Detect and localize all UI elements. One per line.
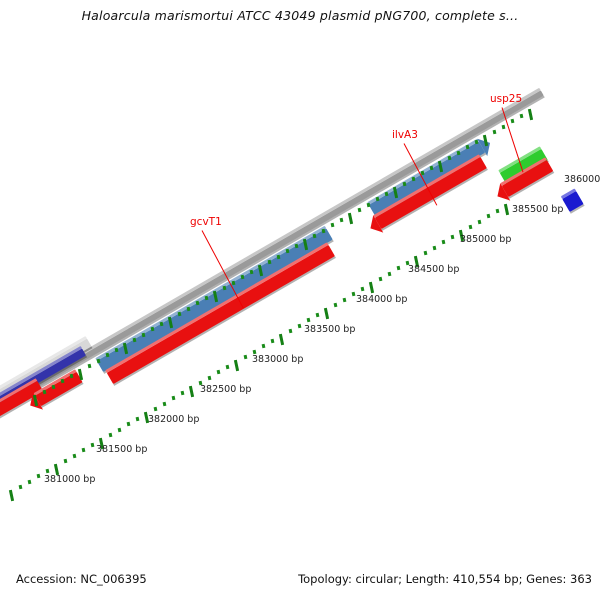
ruler-tick-minor bbox=[289, 329, 293, 334]
ruler-tick-minor bbox=[358, 208, 362, 213]
ruler-tick-minor bbox=[154, 407, 158, 412]
ruler-tick-major bbox=[369, 282, 374, 293]
ruler-tick-minor bbox=[163, 401, 167, 406]
ruler-tick-major bbox=[324, 308, 329, 319]
ruler-tick-minor bbox=[253, 349, 257, 354]
gene-feature[interactable] bbox=[562, 191, 583, 212]
ruler-tick-minor bbox=[199, 381, 203, 386]
ruler-tick-minor bbox=[487, 214, 491, 219]
ruler-bp-label: 384000 bp bbox=[356, 294, 407, 305]
ruler-tick-minor bbox=[496, 209, 500, 214]
ruler-tick-minor bbox=[208, 375, 212, 380]
ruler-bp-label: 381500 bp bbox=[96, 444, 147, 455]
ruler-tick-minor bbox=[244, 355, 248, 360]
ruler-bp-label: 385500 bp bbox=[512, 204, 563, 215]
gene-name-label[interactable]: gcvT1 bbox=[190, 216, 222, 228]
ruler-tick-major bbox=[459, 230, 464, 241]
ruler-tick-minor bbox=[388, 271, 392, 276]
ruler-tick-major bbox=[414, 256, 419, 267]
ruler-tick-minor bbox=[307, 318, 311, 323]
ruler-tick-minor bbox=[469, 225, 473, 230]
ruler-tick-major bbox=[99, 438, 104, 449]
ruler-tick-minor bbox=[262, 344, 266, 349]
ruler-tick-minor bbox=[28, 479, 32, 484]
ruler-bp-label: 381000 bp bbox=[44, 474, 95, 485]
gene-name-label[interactable]: usp25 bbox=[490, 93, 522, 105]
genome-backbone bbox=[0, 90, 544, 415]
ruler-bp-label: 383000 bp bbox=[252, 354, 303, 365]
ruler-tick-major bbox=[54, 464, 59, 475]
ruler-tick-minor bbox=[340, 218, 344, 223]
ruler-tick-minor bbox=[226, 365, 230, 370]
ruler-tick-minor bbox=[37, 474, 41, 479]
ruler-tick-minor bbox=[397, 266, 401, 271]
ruler-tick-major bbox=[279, 334, 284, 345]
ruler-tick-minor bbox=[478, 219, 482, 224]
ruler-tick-major bbox=[9, 490, 14, 501]
ruler-bp-label: 383500 bp bbox=[304, 324, 355, 335]
ruler-tick-minor bbox=[298, 323, 302, 328]
ruler-tick-minor bbox=[316, 313, 320, 318]
ruler-tick-minor bbox=[406, 261, 410, 266]
ruler-tick-minor bbox=[217, 370, 221, 375]
accession-label: Accession: NC_006395 bbox=[16, 572, 147, 586]
ruler-tick-minor bbox=[19, 485, 23, 490]
ruler-tick-minor bbox=[271, 339, 275, 344]
ruler-tick-minor bbox=[181, 391, 185, 396]
ruler-tick-minor bbox=[352, 292, 356, 297]
ruler-bp-label: 385000 bp bbox=[460, 234, 511, 245]
ruler-tick-minor bbox=[136, 417, 140, 422]
genome-summary-label: Topology: circular; Length: 410,554 bp; … bbox=[298, 572, 592, 586]
ruler-tick-minor bbox=[511, 119, 515, 124]
ruler-tick-minor bbox=[91, 443, 95, 448]
ruler-tick-minor bbox=[331, 223, 335, 228]
gene-feature[interactable] bbox=[97, 228, 333, 372]
ruler-bp-label: 384500 bp bbox=[408, 264, 459, 275]
ruler-tick-major bbox=[504, 204, 509, 215]
ruler-tick-minor bbox=[109, 433, 113, 438]
ruler-tick-minor bbox=[88, 364, 92, 369]
genome-diagram: 381000 bp381500 bp382000 bp382500 bp3830… bbox=[0, 0, 600, 600]
ruler-bp-label: 382000 bp bbox=[148, 414, 199, 425]
ruler-tick-minor bbox=[82, 448, 86, 453]
ruler-tick-minor bbox=[172, 396, 176, 401]
ruler-tick-minor bbox=[73, 453, 77, 458]
ruler-tick-minor bbox=[64, 459, 68, 464]
ruler-tick-minor bbox=[361, 287, 365, 292]
ruler-tick-minor bbox=[334, 303, 338, 308]
ruler-tick-major bbox=[189, 386, 194, 397]
ruler-bp-label: 382500 bp bbox=[200, 384, 251, 395]
ruler-tick-major bbox=[234, 360, 239, 371]
ruler-tick-minor bbox=[118, 427, 122, 432]
ruler-tick-minor bbox=[46, 469, 50, 474]
ruler-tick-minor bbox=[343, 297, 347, 302]
ruler-tick-major bbox=[528, 109, 533, 120]
ruler-tick-minor bbox=[502, 124, 506, 129]
genome-viewer: Haloarcula marismortui ATCC 43049 plasmi… bbox=[0, 0, 600, 600]
ruler-tick-minor bbox=[433, 245, 437, 250]
ruler-tick-minor bbox=[442, 240, 446, 245]
ruler-tick-minor bbox=[493, 130, 497, 135]
ruler-tick-minor bbox=[520, 114, 524, 119]
footer-divider bbox=[0, 556, 600, 557]
gene-feature[interactable] bbox=[107, 245, 335, 384]
ruler-tick-minor bbox=[424, 251, 428, 256]
ruler-tick-major bbox=[348, 213, 353, 224]
ruler-tick-major bbox=[144, 412, 149, 423]
ruler-tick-minor bbox=[127, 422, 131, 427]
ruler-tick-minor bbox=[451, 235, 455, 240]
ruler-bp-label: 386000 bp bbox=[564, 174, 600, 185]
gene-name-label[interactable]: ilvA3 bbox=[392, 129, 418, 141]
page-title: Haloarcula marismortui ATCC 43049 plasmi… bbox=[0, 8, 600, 23]
ruler-tick-minor bbox=[379, 277, 383, 282]
